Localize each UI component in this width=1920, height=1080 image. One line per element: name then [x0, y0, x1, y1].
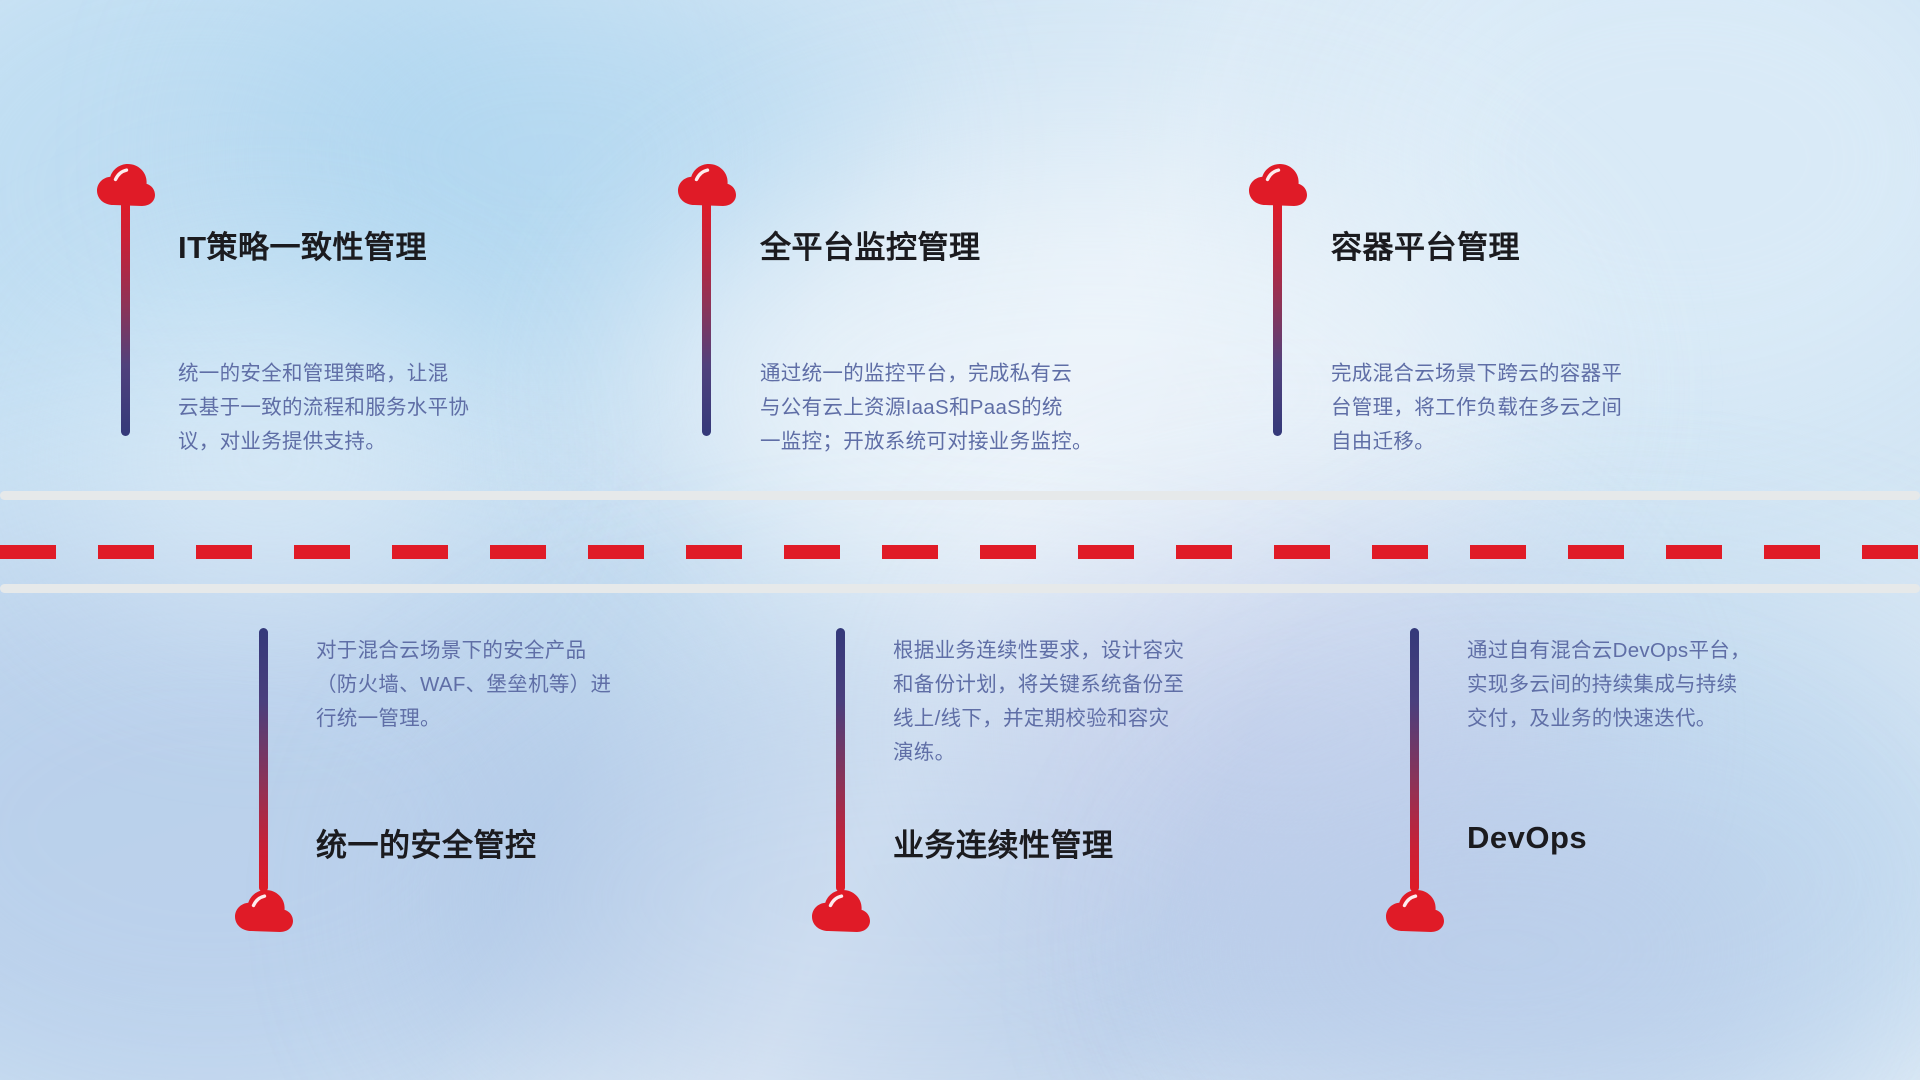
card-title: 业务连续性管理	[893, 820, 1114, 865]
card-body: 通过自有混合云DevOps平台， 实现多云间的持续集成与持续 交付，及业务的快速…	[1467, 634, 1887, 736]
card-body: 根据业务连续性要求，设计容灾 和备份计划，将关键系统备份至 线上/线下，并定期校…	[893, 634, 1323, 770]
card-body: 通过统一的监控平台，完成私有云 与公有云上资源IaaS和PaaS的统 一监控；开…	[760, 357, 1220, 459]
cloud-icon	[1384, 888, 1446, 932]
card-body: 完成混合云场景下跨云的容器平 台管理，将工作负载在多云之间 自由迁移。	[1331, 357, 1771, 459]
cloud-icon	[233, 888, 295, 932]
card-title: DevOps	[1467, 820, 1587, 856]
card-title: 全平台监控管理	[760, 222, 981, 267]
infographic-canvas: IT策略一致性管理 统一的安全和管理策略，让混 云基于一致的流程和服务水平协 议…	[0, 0, 1920, 1080]
card-title: IT策略一致性管理	[178, 222, 427, 267]
cloud-icon	[810, 888, 872, 932]
card-body: 对于混合云场景下的安全产品 （防火墙、WAF、堡垒机等）进 行统一管理。	[316, 634, 746, 736]
divider-line-top	[0, 491, 1920, 500]
card-title: 容器平台管理	[1331, 222, 1520, 267]
divider-line-bottom	[0, 584, 1920, 593]
card-body: 统一的安全和管理策略，让混 云基于一致的流程和服务水平协 议，对业务提供支持。	[178, 357, 618, 459]
card-title: 统一的安全管控	[316, 820, 537, 865]
divider-dashes	[0, 545, 1920, 559]
